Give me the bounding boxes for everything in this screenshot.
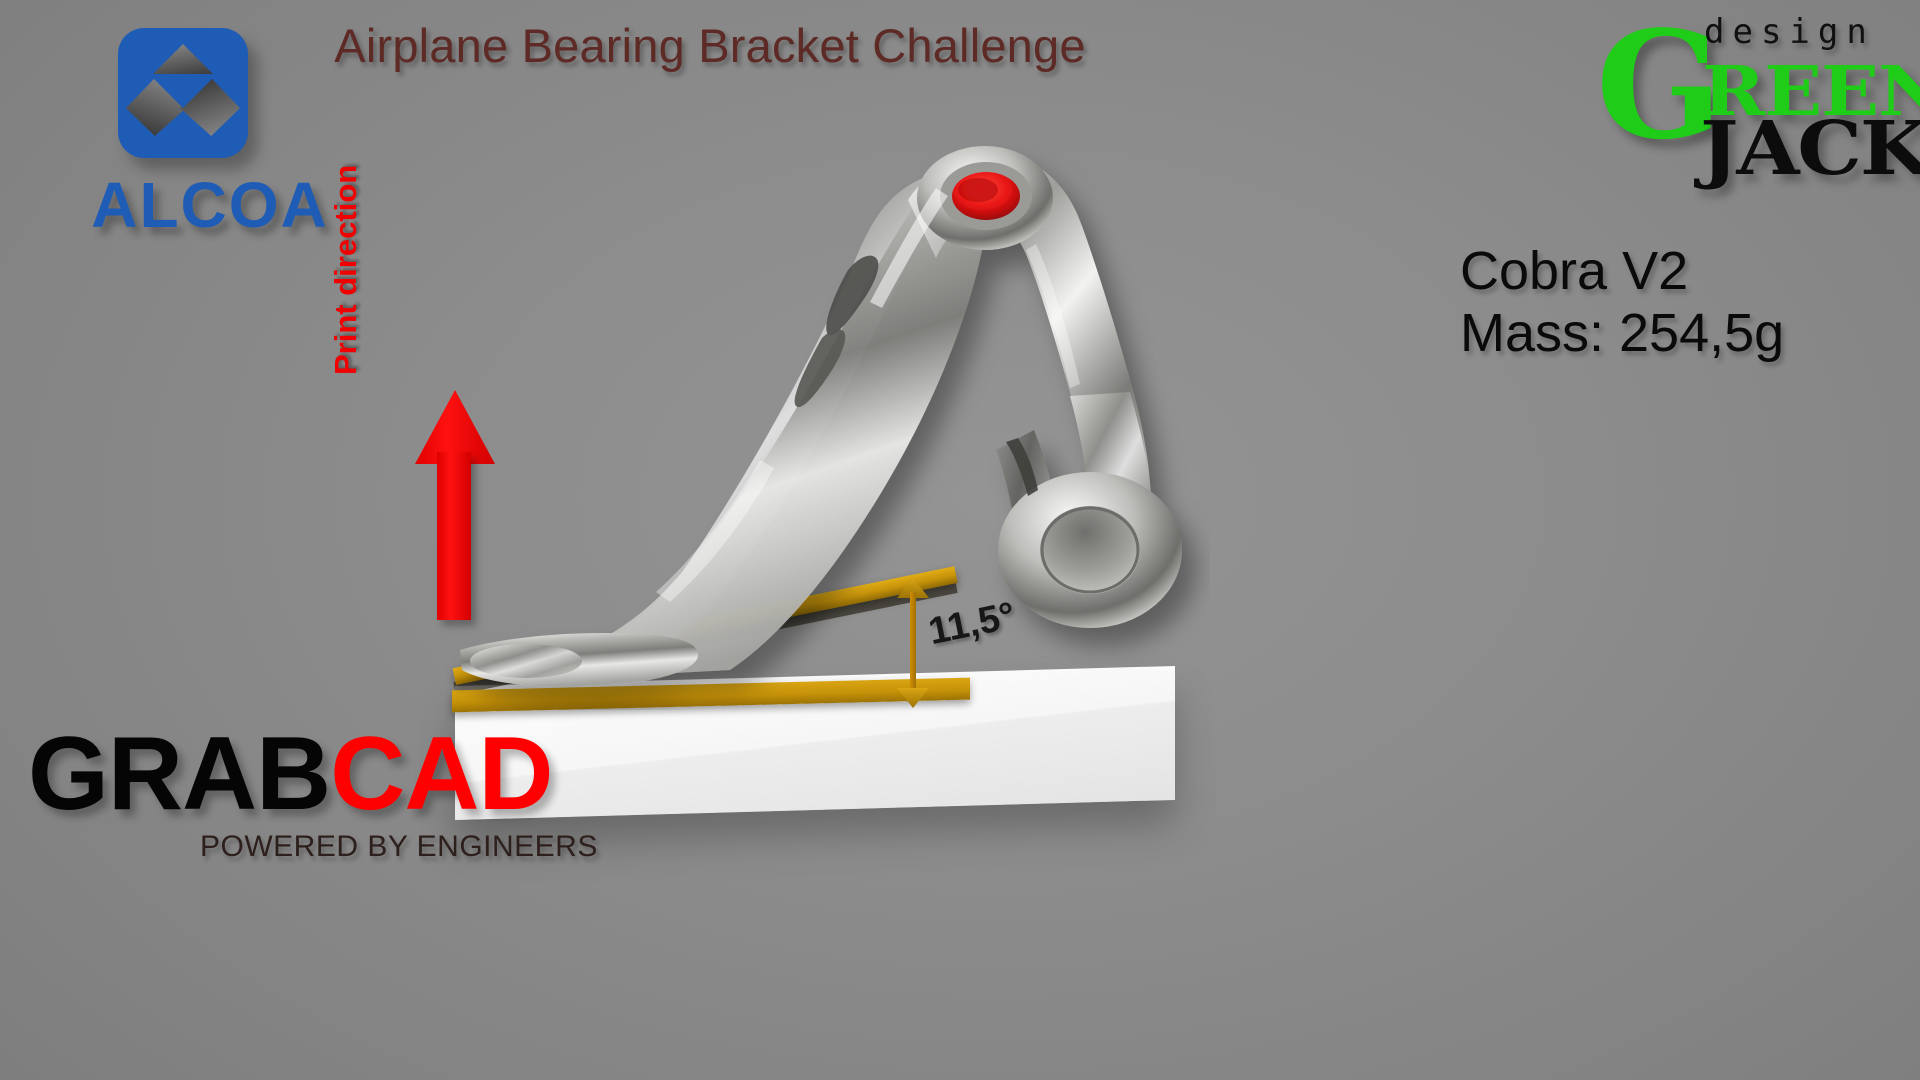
- grabcad-grab: GRAB: [28, 716, 330, 832]
- bearing-insert-bore: [958, 178, 998, 202]
- alcoa-wordmark: ALCOA: [60, 168, 360, 242]
- alcoa-logo: ALCOA: [60, 28, 360, 238]
- angle-dimension-arrow: [893, 578, 933, 708]
- greenjack-design-word: design: [1704, 12, 1875, 52]
- alcoa-triangle-top: [153, 44, 213, 74]
- bracket-geometry: [430, 130, 1210, 710]
- bearing-bracket-model: [430, 130, 1210, 710]
- grabcad-logo: GRABCAD POWERED BY ENGINEERS: [28, 722, 628, 862]
- grabcad-wordmark: GRABCAD: [28, 722, 628, 826]
- bracket-body: [460, 146, 1182, 687]
- model-info-block: Cobra V2 Mass: 254,5g: [1460, 240, 1784, 364]
- eye-bore: [1040, 506, 1140, 594]
- print-direction-label: Print direction: [328, 125, 364, 375]
- dimension-line: [910, 592, 916, 696]
- grabcad-tagline: POWERED BY ENGINEERS: [200, 830, 628, 864]
- greenjack-logo: G design REEN JACK: [1596, 6, 1906, 166]
- render-canvas: Airplane Bearing Bracket Challenge ALCOA…: [0, 0, 1920, 1080]
- model-mass: Mass: 254,5g: [1460, 302, 1784, 364]
- bracket-foot-pad: [470, 644, 582, 678]
- dimension-arrowhead-down: [897, 688, 929, 708]
- alcoa-diamond-icon: [118, 28, 248, 158]
- grabcad-cad: CAD: [330, 716, 552, 832]
- greenjack-jack-word: JACK: [1700, 106, 1920, 192]
- model-name: Cobra V2: [1460, 240, 1784, 302]
